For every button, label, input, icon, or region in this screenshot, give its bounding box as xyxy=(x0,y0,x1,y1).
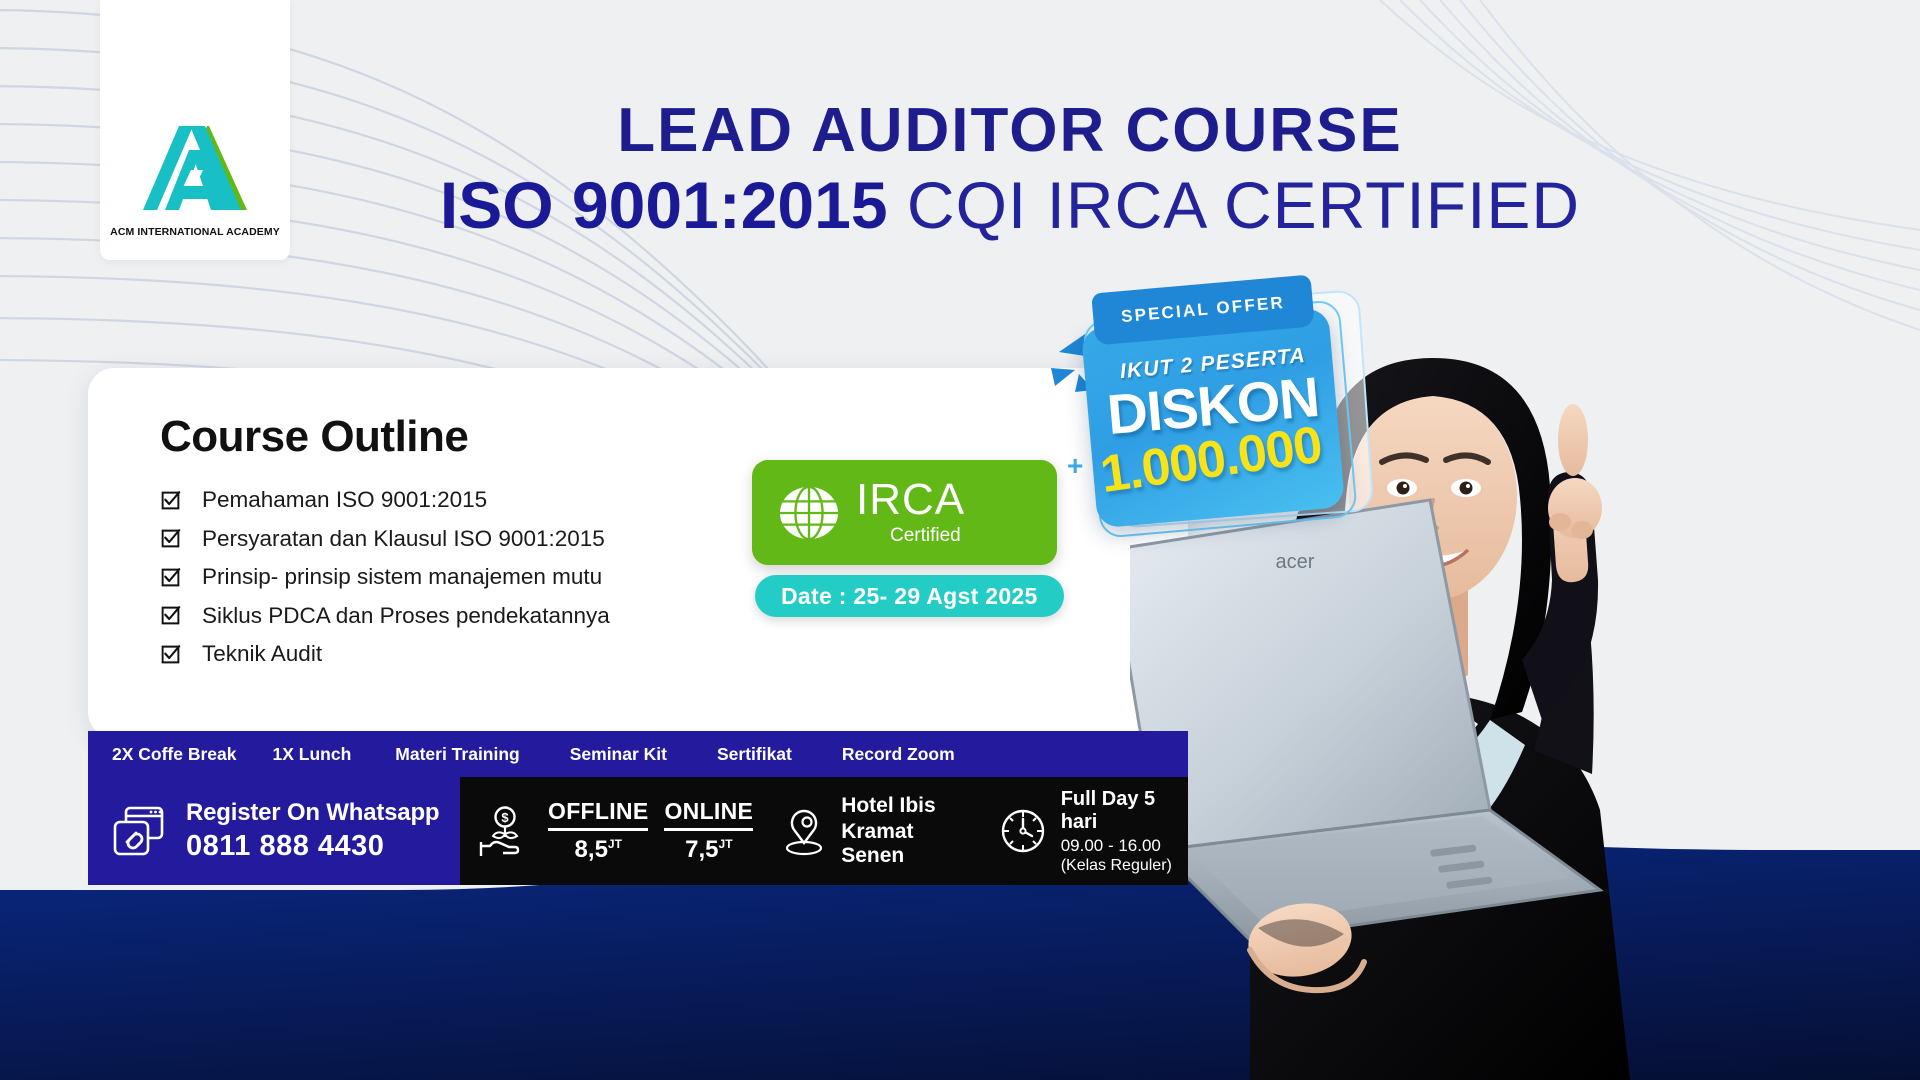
offline-unit: JT xyxy=(608,837,622,851)
list-item-label: Persyaratan dan Klausul ISO 9001:2015 xyxy=(202,526,605,552)
headline-certification: CQI IRCA CERTIFIED xyxy=(888,168,1581,242)
schedule-class-type: (Kelas Reguler) xyxy=(1061,857,1188,875)
online-label: ONLINE xyxy=(664,798,753,831)
course-date-text: Date : 25- 29 Agst 2025 xyxy=(781,583,1038,610)
course-outline-heading: Course Outline xyxy=(160,412,468,462)
offline-amount: 8,5 xyxy=(575,836,608,863)
feature-item: 1X Lunch xyxy=(273,744,352,765)
irca-certified-badge: IRCA Certified xyxy=(752,460,1057,565)
special-offer-badge: SPECIAL OFFER IKUT 2 PESERTA DISKON 1.00… xyxy=(1075,300,1375,540)
offer-ribbon-label: SPECIAL OFFER xyxy=(1120,293,1285,327)
irca-badge-text: IRCA Certified xyxy=(856,478,965,547)
feature-item: Record Zoom xyxy=(842,744,955,765)
venue-name: Hotel Ibis xyxy=(841,794,973,818)
register-text-block: Register On Whatsapp 0811 888 4430 xyxy=(186,799,439,863)
money-in-hand-icon: $ xyxy=(478,804,532,858)
offline-price-value: 8,5JT xyxy=(548,836,648,864)
irca-badge-title: IRCA xyxy=(856,478,965,522)
headline-line-1: LEAD AUDITOR COURSE xyxy=(330,100,1690,162)
brand-logo-text: ACM INTERNATIONAL ACADEMY xyxy=(110,226,280,238)
checkbox-checked-icon xyxy=(160,567,181,588)
list-item-label: Teknik Audit xyxy=(202,641,322,667)
list-item: Persyaratan dan Klausul ISO 9001:2015 xyxy=(160,526,800,552)
schedule-block: Full Day 5 hari 09.00 - 16.00 (Kelas Reg… xyxy=(1061,788,1188,875)
list-item: Prinsip- prinsip sistem manajemen mutu xyxy=(160,564,800,590)
venue-block: Hotel Ibis Kramat Senen xyxy=(841,794,973,868)
page-title: LEAD AUDITOR COURSE ISO 9001:2015 CQI IR… xyxy=(330,100,1690,238)
svg-text:acer: acer xyxy=(1276,551,1315,573)
list-item-label: Pemahaman ISO 9001:2015 xyxy=(202,487,487,513)
list-item-label: Prinsip- prinsip sistem manajemen mutu xyxy=(202,564,602,590)
online-price-value: 7,5JT xyxy=(664,836,753,864)
list-item: Pemahaman ISO 9001:2015 xyxy=(160,487,800,513)
feature-item: Materi Training xyxy=(395,744,519,765)
list-item-label: Siklus PDCA dan Proses pendekatannya xyxy=(202,603,610,629)
globe-icon xyxy=(778,482,840,544)
checkbox-checked-icon xyxy=(160,528,181,549)
online-amount: 7,5 xyxy=(685,836,718,863)
location-pin-icon xyxy=(781,805,827,857)
checkbox-checked-icon xyxy=(160,644,181,665)
offline-price-column: OFFLINE 8,5JT xyxy=(548,798,648,864)
register-phone-number[interactable]: 0811 888 4430 xyxy=(186,830,439,863)
online-price-column: ONLINE 7,5JT xyxy=(664,798,753,864)
headline-line-2: ISO 9001:2015 CQI IRCA CERTIFIED xyxy=(330,172,1690,238)
checkbox-checked-icon xyxy=(160,605,181,626)
acm-a-monogram-icon xyxy=(135,120,255,216)
whatsapp-register-icon xyxy=(110,802,168,860)
register-label: Register On Whatsapp xyxy=(186,799,439,827)
brand-logo-panel: ACM INTERNATIONAL ACADEMY xyxy=(100,0,290,260)
checkbox-checked-icon xyxy=(160,490,181,511)
feature-item: 2X Coffe Break xyxy=(112,744,237,765)
online-unit: JT xyxy=(719,837,733,851)
svg-text:$: $ xyxy=(501,810,509,825)
register-whatsapp-bar[interactable]: Register On Whatsapp 0811 888 4430 xyxy=(88,777,460,885)
feature-item: Sertifikat xyxy=(717,744,792,765)
offline-label: OFFLINE xyxy=(548,798,648,831)
course-outline-list: Pemahaman ISO 9001:2015 Persyaratan dan … xyxy=(160,487,800,680)
course-date-pill: Date : 25- 29 Agst 2025 xyxy=(755,575,1064,617)
list-item: Siklus PDCA dan Proses pendekatannya xyxy=(160,603,800,629)
headline-iso-standard: ISO 9001:2015 xyxy=(440,168,888,242)
schedule-hours: 09.00 - 16.00 xyxy=(1061,836,1188,856)
schedule-duration: Full Day 5 hari xyxy=(1061,788,1188,834)
venue-location: Kramat Senen xyxy=(841,820,973,868)
clock-icon xyxy=(999,807,1047,855)
irca-badge-subtitle: Certified xyxy=(890,525,965,547)
list-item: Teknik Audit xyxy=(160,641,800,667)
pricing-details-bar: $ OFFLINE 8,5JT ONLINE 7,5JT Hotel Ibis … xyxy=(460,777,1188,885)
included-features-bar: 2X Coffe Break 1X Lunch Materi Training … xyxy=(88,731,1188,777)
feature-item: Seminar Kit xyxy=(570,744,667,765)
offer-plus-icon: + xyxy=(1067,450,1083,482)
